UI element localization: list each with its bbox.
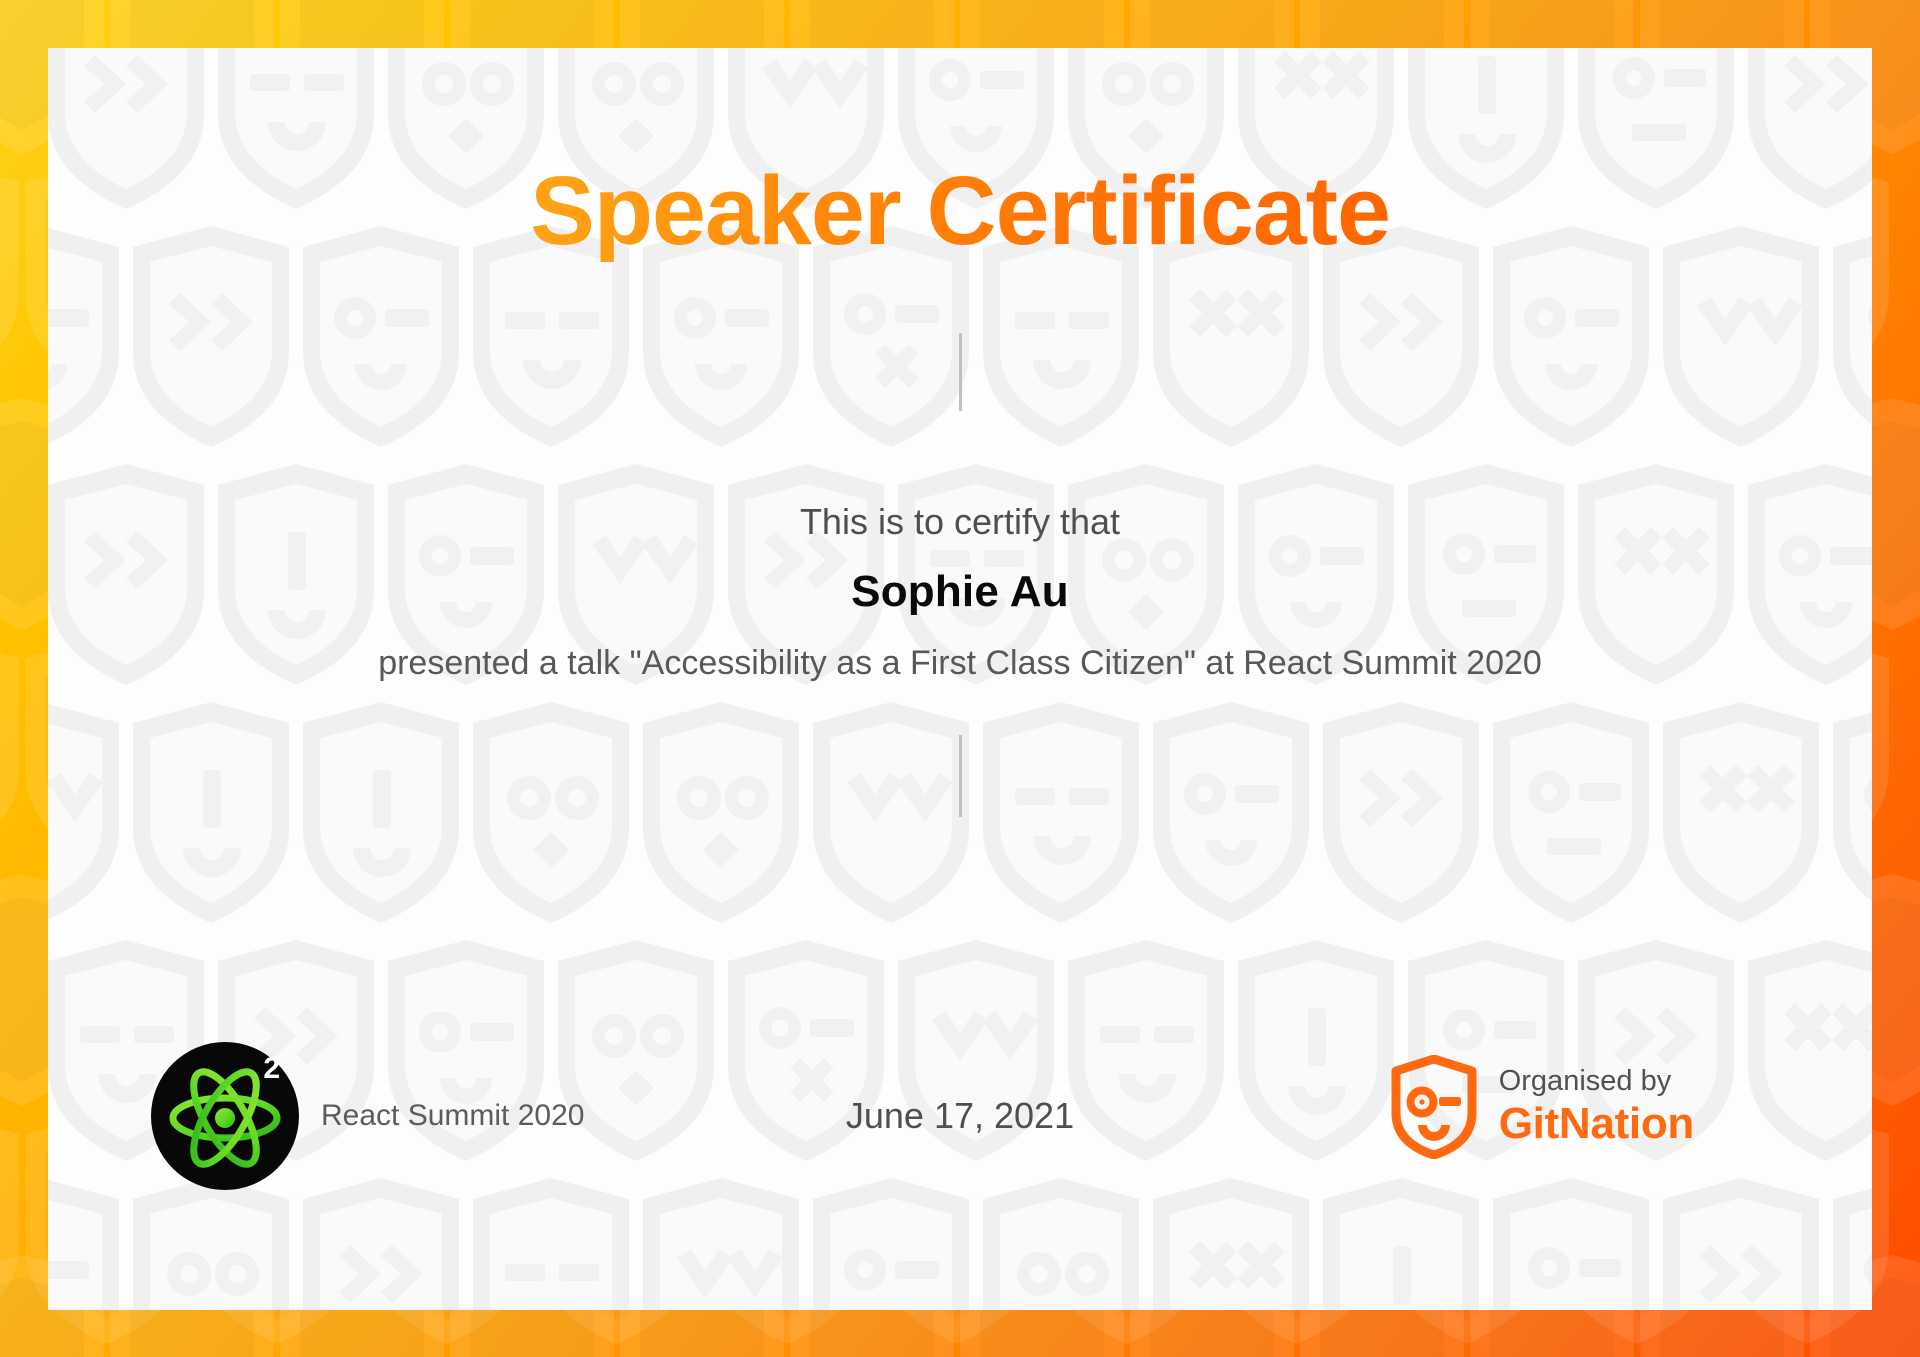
page-title: Speaker Certificate	[530, 160, 1390, 262]
organiser-text: Organised by GitNation	[1499, 1064, 1694, 1150]
organiser-block: Organised by GitNation	[1391, 1055, 1694, 1159]
organiser-name: GitNation	[1499, 1098, 1694, 1150]
divider-bottom	[959, 735, 962, 817]
certificate-footer: 2 React Summit 2020 June 17, 2021 Organi…	[48, 1042, 1872, 1192]
certificate-frame: Speaker Certificate This is to certify t…	[0, 0, 1920, 1357]
react-summit-logo-superscript: 2	[263, 1054, 280, 1084]
gitnation-winking-shield-icon	[1391, 1055, 1477, 1159]
certify-statement: This is to certify that	[800, 501, 1120, 543]
certificate-card: Speaker Certificate This is to certify t…	[48, 48, 1872, 1310]
organiser-label: Organised by	[1499, 1064, 1694, 1098]
recipient-name: Sophie Au	[851, 567, 1069, 617]
talk-description: presented a talk "Accessibility as a Fir…	[378, 644, 1542, 683]
divider-top	[959, 333, 962, 411]
